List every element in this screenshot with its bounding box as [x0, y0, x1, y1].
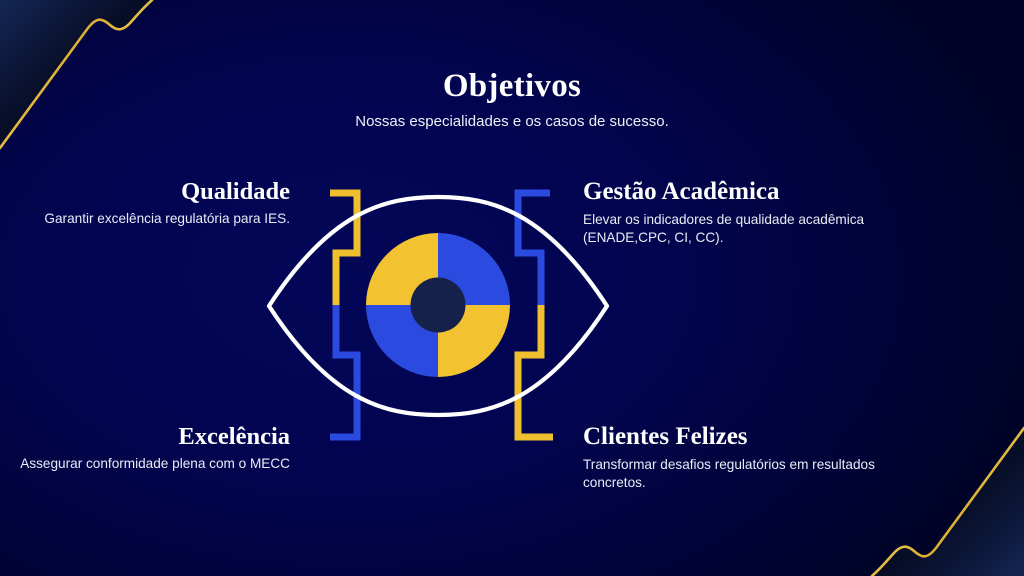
objective-description: Assegurar conformidade plena com o MECC [20, 455, 290, 473]
objective-title: Qualidade [20, 178, 290, 205]
objective-qualidade: Qualidade Garantir excelência regulatóri… [20, 178, 290, 229]
slide-heading: Objetivos Nossas especialidades e os cas… [0, 68, 1024, 131]
objective-description: Transformar desafios regulatórios em res… [583, 456, 883, 492]
connector-top-left [330, 193, 357, 305]
objective-title: Clientes Felizes [583, 423, 883, 451]
slide-canvas: Objetivos Nossas especialidades e os cas… [0, 0, 1024, 576]
connector-top-right [518, 193, 550, 305]
connector-bottom-right [518, 305, 553, 437]
pupil [411, 278, 466, 333]
objective-clientes-felizes: Clientes Felizes Transformar desafios re… [583, 423, 883, 492]
objective-title: Excelência [20, 423, 290, 450]
page-subtitle: Nossas especialidades e os casos de suce… [0, 113, 1024, 131]
page-title: Objetivos [0, 68, 1024, 104]
objective-excelencia: Excelência Assegurar conformidade plena … [20, 423, 290, 474]
objective-description: Elevar os indicadores de qualidade acadê… [583, 211, 883, 247]
objective-gestao-academica: Gestão Acadêmica Elevar os indicadores d… [583, 178, 883, 247]
connector-bottom-left [330, 305, 357, 437]
objective-description: Garantir excelência regulatória para IES… [20, 210, 290, 228]
objective-title: Gestão Acadêmica [583, 178, 883, 206]
